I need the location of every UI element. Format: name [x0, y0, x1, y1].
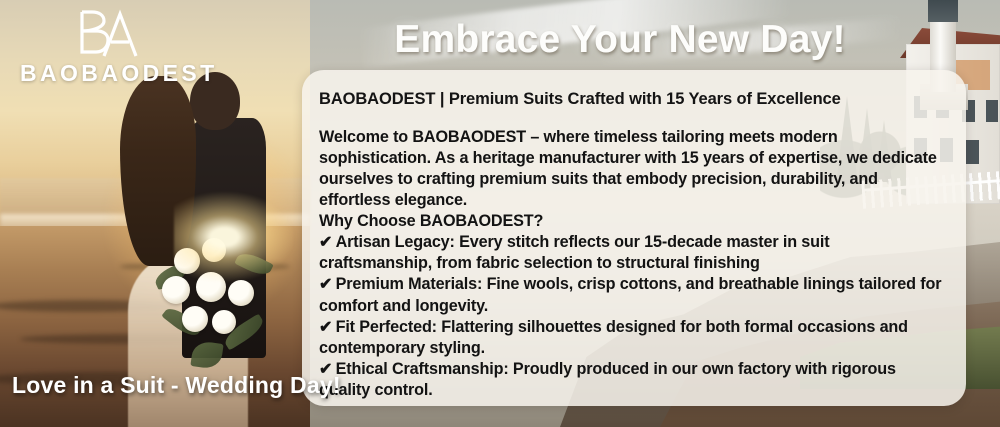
- tagline: Love in a Suit - Wedding Day!: [12, 372, 341, 399]
- check-icon: ✔: [319, 233, 336, 251]
- intro-paragraph: Welcome to BAOBAODEST – where timeless t…: [319, 127, 946, 211]
- benefit-item: ✔Fit Perfected: Flattering silhouettes d…: [319, 317, 946, 359]
- panel-body: Welcome to BAOBAODEST – where timeless t…: [319, 127, 946, 401]
- bouquet-flower: [182, 306, 208, 332]
- why-choose-heading: Why Choose BAOBAODEST?: [319, 211, 946, 232]
- benefit-text: Fit Perfected: Flattering silhouettes de…: [319, 318, 908, 357]
- benefit-item: ✔Premium Materials: Fine wools, crisp co…: [319, 274, 946, 316]
- ba-monogram-icon: [70, 8, 144, 60]
- benefit-item: ✔Ethical Craftsmanship: Proudly produced…: [319, 359, 946, 401]
- brand-name: BAOBAODEST: [18, 62, 248, 85]
- headline: Embrace Your New Day!: [300, 18, 940, 62]
- content-panel: BAOBAODEST | Premium Suits Crafted with …: [302, 70, 966, 406]
- bouquet-flower: [228, 280, 254, 306]
- bouquet-flower: [212, 310, 236, 334]
- brand-logo[interactable]: BAOBAODEST: [18, 8, 248, 85]
- panel-title: BAOBAODEST | Premium Suits Crafted with …: [319, 90, 946, 109]
- benefit-text: Premium Materials: Fine wools, crisp cot…: [319, 275, 941, 314]
- check-icon: ✔: [319, 275, 336, 293]
- benefit-item: ✔Artisan Legacy: Every stitch reflects o…: [319, 232, 946, 274]
- benefit-text: Ethical Craftsmanship: Proudly produced …: [319, 360, 896, 399]
- check-icon: ✔: [319, 318, 336, 336]
- promo-banner: BAOBAODEST Embrace Your New Day! BAOBAOD…: [0, 0, 1000, 427]
- benefit-text: Artisan Legacy: Every stitch reflects ou…: [319, 233, 829, 272]
- house-window: [966, 140, 979, 164]
- house-window: [986, 100, 998, 122]
